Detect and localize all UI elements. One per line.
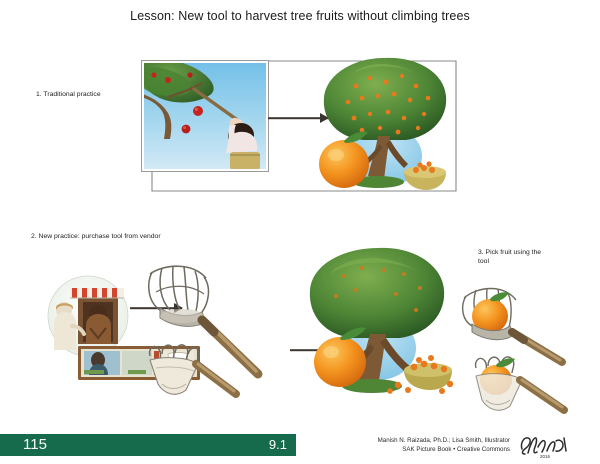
credit-block: Manish N. Raizada, Ph.D.; Lisa Smith, Il… <box>360 436 510 455</box>
page-number: 115 <box>23 436 47 453</box>
credit-line-authors: Manish N. Raizada, Ph.D.; Lisa Smith, Il… <box>360 436 510 445</box>
signature-year: 2016 <box>540 454 551 459</box>
illustration-orange-tree-bottom <box>300 240 460 400</box>
credit-line-source: SAK Picture Book • Creative Commons <box>360 445 510 454</box>
page-title: Lesson: New tool to harvest tree fruits … <box>0 9 600 23</box>
step-1-caption: 1. Traditional practice <box>36 90 101 99</box>
illustration-bag-picking-orange <box>468 354 572 416</box>
illustration-orange-tree-top <box>312 52 456 192</box>
illustration-bag-picker-tool <box>140 340 242 402</box>
step-3-label: 3. Pick fruit using the tool <box>478 249 541 265</box>
footer-green-bar: 115 9.1 <box>0 434 296 456</box>
slide-page: Lesson: New tool to harvest tree fruits … <box>0 0 600 464</box>
step-3-caption: 3. Pick fruit using the tool <box>478 248 548 266</box>
illustration-traditional-practice <box>142 61 268 171</box>
section-number: 9.1 <box>269 437 287 452</box>
illustrator-signature: 2016 <box>516 433 572 459</box>
step-2-caption: 2. New practice: purchase tool from vend… <box>31 232 161 241</box>
